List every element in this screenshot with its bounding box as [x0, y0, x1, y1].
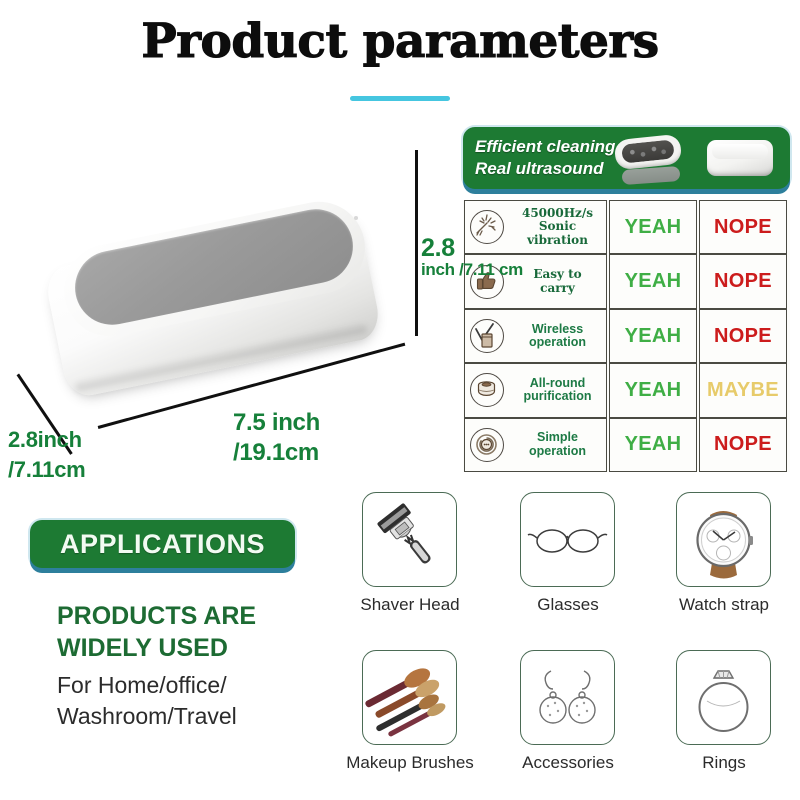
application-card — [520, 492, 615, 587]
all-round-jar-icon — [470, 373, 504, 407]
height-dimension-label: 2.8 inch /7.11 cm — [421, 238, 523, 280]
application-card-label: Shaver Head — [335, 595, 485, 615]
ours-value: YEAH — [625, 216, 682, 239]
applications-badge-label: APPLICATIONS — [60, 529, 265, 560]
banner-text: Efficient cleaning Real ultrasound — [475, 136, 615, 180]
ultrasonic-cleaner-main-photo — [18, 185, 408, 455]
theirs-value: NOPE — [714, 270, 772, 293]
applications-subtext: For Home/office/ Washroom/Travel — [57, 670, 237, 732]
device-indicator-dot — [354, 216, 358, 220]
ours-cell: YEAH — [609, 309, 697, 363]
application-card-label: Makeup Brushes — [335, 753, 485, 773]
detached-lid-photo — [622, 166, 681, 185]
feature-cell: All-round purification — [464, 363, 607, 417]
application-card-label: Rings — [649, 753, 799, 773]
application-card — [676, 492, 771, 587]
table-row: All-round purification YEAH MAYBE — [463, 363, 790, 417]
applications-heading: PRODUCTS ARE WIDELY USED — [57, 600, 256, 664]
feature-label: All-round purification — [509, 377, 606, 404]
theirs-cell: NOPE — [699, 309, 787, 363]
application-card — [520, 650, 615, 745]
application-card-label: Glasses — [493, 595, 643, 615]
application-cards-grid: Shaver Head Glasses — [358, 492, 798, 792]
shaver-head-image — [363, 493, 456, 586]
height-unit: inch /7.11 cm — [421, 259, 523, 280]
feature-cell: Wireless operation — [464, 309, 607, 363]
theirs-value: NOPE — [714, 325, 772, 348]
application-card — [362, 492, 457, 587]
length-dimension-label: 7.5 inch /19.1cm — [233, 408, 320, 468]
ours-value: YEAH — [625, 379, 682, 402]
ours-value: YEAH — [625, 433, 682, 456]
height-dimension-line — [415, 150, 418, 336]
feature-label: Simple operation — [509, 431, 606, 458]
wireless-check-icon — [470, 319, 504, 353]
ours-cell: YEAH — [609, 254, 697, 308]
table-row: Wireless operation YEAH NOPE — [463, 309, 790, 363]
table-row: Simple operation YEAH NOPE — [463, 418, 790, 472]
application-card — [676, 650, 771, 745]
depth-dimension-label: 2.8inch /7.11cm — [8, 425, 85, 485]
application-card-label: Accessories — [493, 753, 643, 773]
ours-cell: YEAH — [609, 200, 697, 254]
theirs-cell: NOPE — [699, 418, 787, 472]
ours-value: YEAH — [625, 325, 682, 348]
glasses-image — [521, 493, 614, 586]
earrings-image — [521, 651, 614, 744]
theirs-value: NOPE — [714, 433, 772, 456]
applications-badge: APPLICATIONS — [30, 520, 295, 568]
closed-ultrasonic-cleaner-photo — [707, 140, 773, 176]
height-value: 2.8 — [421, 234, 455, 262]
product-parameters-infographic: Product parameters Efficient cleaning Re… — [0, 0, 800, 800]
application-card — [362, 650, 457, 745]
feature-cell: Simple operation — [464, 418, 607, 472]
title-underline-rule — [350, 96, 450, 101]
page-title: Product parameters — [0, 14, 800, 69]
simple-operation-icon — [470, 428, 504, 462]
application-card-label: Watch strap — [649, 595, 799, 615]
ours-value: YEAH — [625, 270, 682, 293]
theirs-cell: NOPE — [699, 254, 787, 308]
theirs-value: MAYBE — [707, 379, 779, 402]
open-ultrasonic-cleaner-photo — [614, 134, 683, 171]
theirs-cell: NOPE — [699, 200, 787, 254]
efficient-cleaning-banner: Efficient cleaning Real ultrasound — [463, 127, 790, 189]
ours-cell: YEAH — [609, 418, 697, 472]
ring-image — [677, 651, 770, 744]
theirs-value: NOPE — [714, 216, 772, 239]
feature-label: Wireless operation — [509, 323, 606, 350]
theirs-cell: MAYBE — [699, 363, 787, 417]
feature-label: Easy to carry — [509, 268, 606, 295]
watch-image — [677, 493, 770, 586]
feature-label: 45000Hz/s Sonic vibration — [509, 207, 606, 248]
ours-cell: YEAH — [609, 363, 697, 417]
makeup-brushes-image — [363, 651, 456, 744]
